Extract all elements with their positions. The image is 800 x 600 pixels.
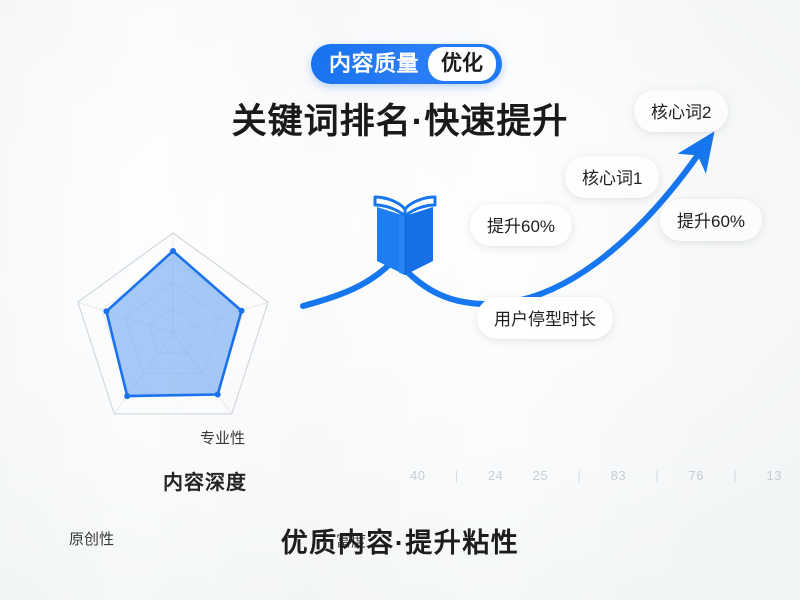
axis-tick-value: 25 (533, 468, 548, 483)
radar-axis-label-0: 专业性 (200, 427, 245, 448)
slide-canvas: 内容质量 优化 关键词排名·快速提升 专业性 富度 丰富度 原创性 原创性 (0, 0, 800, 600)
axis-tick-value: 40 (410, 468, 425, 483)
pill-dwell-time[interactable]: 用户停型时长 (477, 297, 613, 339)
axis-tick-value: 24 (488, 468, 503, 483)
pill-core-keyword-2[interactable]: 核心词2 (634, 90, 728, 132)
pill-uplift-left[interactable]: 提升60% (470, 204, 572, 246)
radar-data-area (106, 251, 241, 396)
axis-tick-mark: | (455, 468, 459, 483)
radar-svg (18, 228, 328, 438)
axis-tick-value: 83 (611, 468, 626, 483)
axis-tick-mark: | (733, 468, 737, 483)
radar-chart: 专业性 富度 丰富度 原创性 原创性 (18, 228, 328, 438)
axis-tick-value: 13 (766, 468, 781, 483)
radar-caption: 内容深度 (163, 466, 247, 495)
axis-tick-row: 40|2425|83|76|13 (410, 464, 782, 486)
axis-tick-value: 76 (689, 468, 704, 483)
footer-tagline: 优质内容·提升粘性 (0, 521, 800, 560)
axis-tick-mark: | (655, 468, 659, 483)
content-quality-badge[interactable]: 内容质量 优化 (311, 44, 502, 84)
pill-core-keyword-1[interactable]: 核心词1 (565, 156, 659, 198)
axis-tick-mark: | (577, 468, 581, 483)
badge-inner-label: 优化 (428, 47, 496, 81)
open-book-icon (365, 185, 445, 285)
pill-uplift-right[interactable]: 提升60% (660, 199, 762, 241)
badge-main-label: 内容质量 (329, 53, 428, 75)
